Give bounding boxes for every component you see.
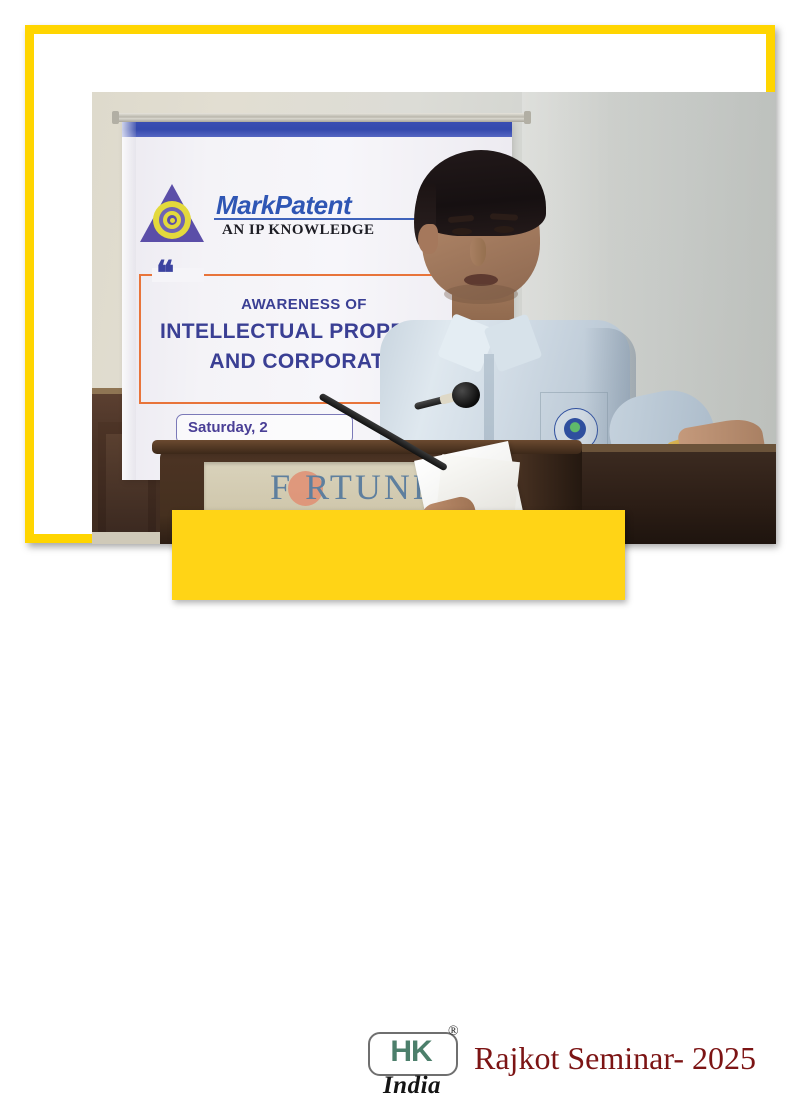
banner-header-strip — [122, 120, 512, 137]
framed-photo: MarkPatent AN IP KNOWLEDGE ❝ AWARENESS O… — [0, 0, 800, 600]
registered-trademark-icon: ® — [448, 1024, 459, 1040]
brand-tagline: AN IP KNOWLEDGE — [222, 222, 375, 239]
brand-wordmark: MarkPatent — [216, 190, 351, 221]
banner-headline-line1: AWARENESS OF — [139, 296, 469, 313]
institute-crest-inner — [564, 418, 586, 440]
banner-edge-curl — [122, 120, 136, 480]
triangle-rings-icon — [140, 184, 204, 242]
banner-rail-cap-left — [112, 111, 119, 124]
speaker-eye-left — [452, 228, 472, 235]
banner-date-text: Saturday, 2 — [188, 419, 268, 436]
caption-title: Rajkot Seminar- 2025 — [474, 1040, 756, 1077]
caption-bar: HK ® India Rajkot Seminar- 2025 — [172, 510, 625, 600]
photo-frame-border: MarkPatent AN IP KNOWLEDGE ❝ AWARENESS O… — [25, 25, 775, 543]
banner-rail-cap-right — [524, 111, 531, 124]
podium-top-rail — [152, 440, 582, 454]
speaker-nose — [470, 238, 486, 266]
speaker-eye-right — [494, 226, 514, 233]
speaker-ear — [418, 224, 438, 254]
quotation-mark-icon: ❝ — [156, 258, 174, 292]
speaker-chin-shadow — [444, 284, 518, 304]
microphone-icon — [452, 382, 480, 408]
photograph: MarkPatent AN IP KNOWLEDGE ❝ AWARENESS O… — [92, 92, 776, 544]
banner-rail — [114, 113, 526, 122]
hk-logo-mark: HK — [368, 1034, 454, 1070]
hk-logo-country: India — [362, 1072, 462, 1100]
